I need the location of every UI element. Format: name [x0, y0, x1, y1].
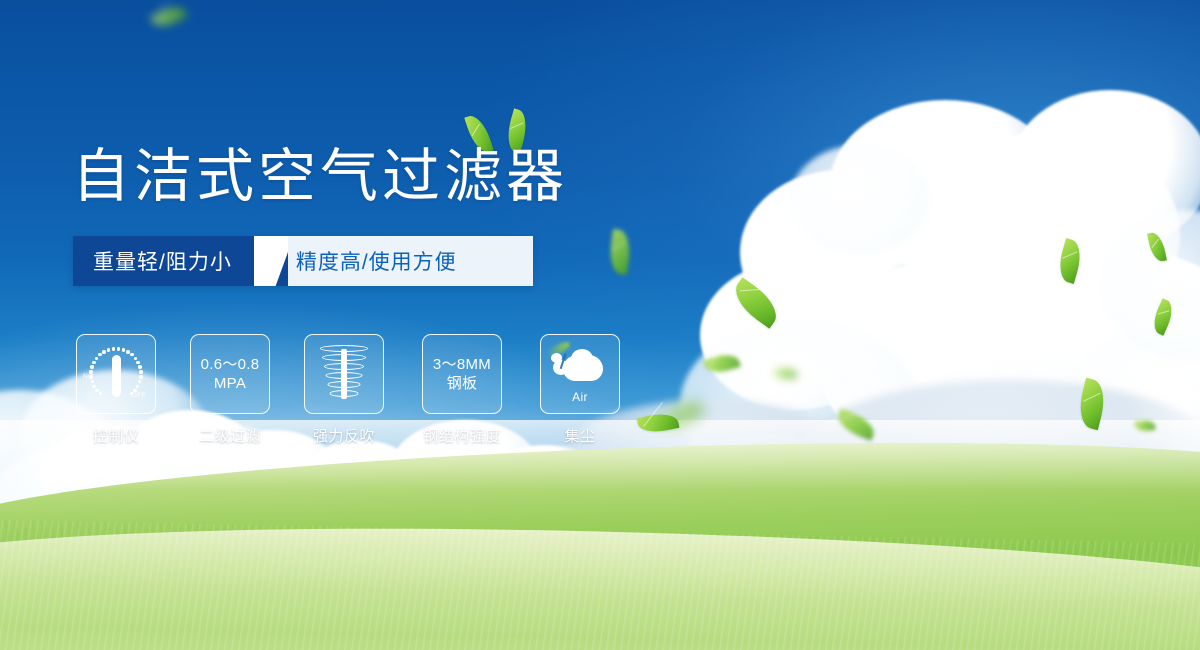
gauge-needle [112, 355, 121, 397]
gauge-tick [99, 392, 102, 395]
gauge-tick [98, 353, 101, 356]
feature-box-blowback [304, 334, 384, 414]
gauge-tick [90, 365, 93, 368]
feature-item[interactable]: 强力反吹 [300, 334, 388, 446]
gauge-tick [89, 370, 92, 373]
gauge-tick [107, 348, 110, 351]
gauge-label-off: OFF [132, 392, 146, 399]
gauge-tick [136, 361, 139, 364]
gauge-tick [133, 389, 136, 392]
gauge-tick [139, 370, 142, 373]
gauge-tick [92, 361, 95, 364]
feature-box-dust: Air [540, 334, 620, 414]
gauge-tick [95, 357, 98, 360]
feature-item[interactable]: 3～8MM 钢板 钢结构强度 [414, 334, 510, 446]
feature-label: 二级过滤 [199, 425, 261, 446]
coil-icon [318, 345, 370, 403]
gauge-tick [92, 385, 95, 388]
gauge-tick [126, 350, 129, 353]
gauge-tick [117, 347, 120, 350]
gauge-tick [130, 353, 133, 356]
subtitle-bar: 重量轻/阻力小 精度高/使用方便 [73, 236, 533, 286]
cloud-air-icon: Air [549, 347, 611, 401]
feature-label: 控制仪 [93, 425, 140, 446]
gauge-tick [95, 389, 98, 392]
subtitle-right: 精度高/使用方便 [288, 236, 533, 286]
gauge-tick [102, 350, 105, 353]
feature-box-steel: 3～8MM 钢板 [422, 334, 502, 414]
feature-list: NO OFF 控制仪 0.6～0.8 MPA 二级过滤 [72, 334, 624, 446]
feature-label: 钢结构强度 [423, 425, 501, 446]
feature-label: 集尘 [564, 425, 595, 446]
gauge-tick [134, 357, 137, 360]
gauge-tick [122, 348, 125, 351]
product-banner: 自洁式空气过滤器 重量轻/阻力小 精度高/使用方便 NO OFF 控制仪 [0, 0, 1200, 650]
feature-box-text: 3～8MM 钢板 [433, 355, 491, 393]
grass-field [0, 420, 1200, 650]
feature-box-text: 0.6～0.8 MPA [201, 355, 260, 393]
air-label: Air [549, 390, 611, 404]
gauge-tick [136, 385, 139, 388]
feature-item[interactable]: NO OFF 控制仪 [72, 334, 160, 446]
gauge-tick [138, 365, 141, 368]
gauge-icon: NO OFF [84, 343, 148, 405]
page-title: 自洁式空气过滤器 [72, 142, 568, 212]
gauge-tick [91, 380, 94, 383]
feature-label: 强力反吹 [313, 425, 375, 446]
gauge-tick [89, 375, 92, 378]
feature-box-control: NO OFF [76, 334, 156, 414]
gauge-tick [139, 375, 142, 378]
gauge-tick [112, 347, 115, 350]
gauge-tick [138, 380, 141, 383]
subtitle-left: 重量轻/阻力小 [73, 236, 254, 286]
feature-box-pressure: 0.6～0.8 MPA [190, 334, 270, 414]
feature-item[interactable]: Air 集尘 [536, 334, 624, 446]
feature-item[interactable]: 0.6～0.8 MPA 二级过滤 [186, 334, 274, 446]
subtitle-divider [254, 236, 288, 286]
